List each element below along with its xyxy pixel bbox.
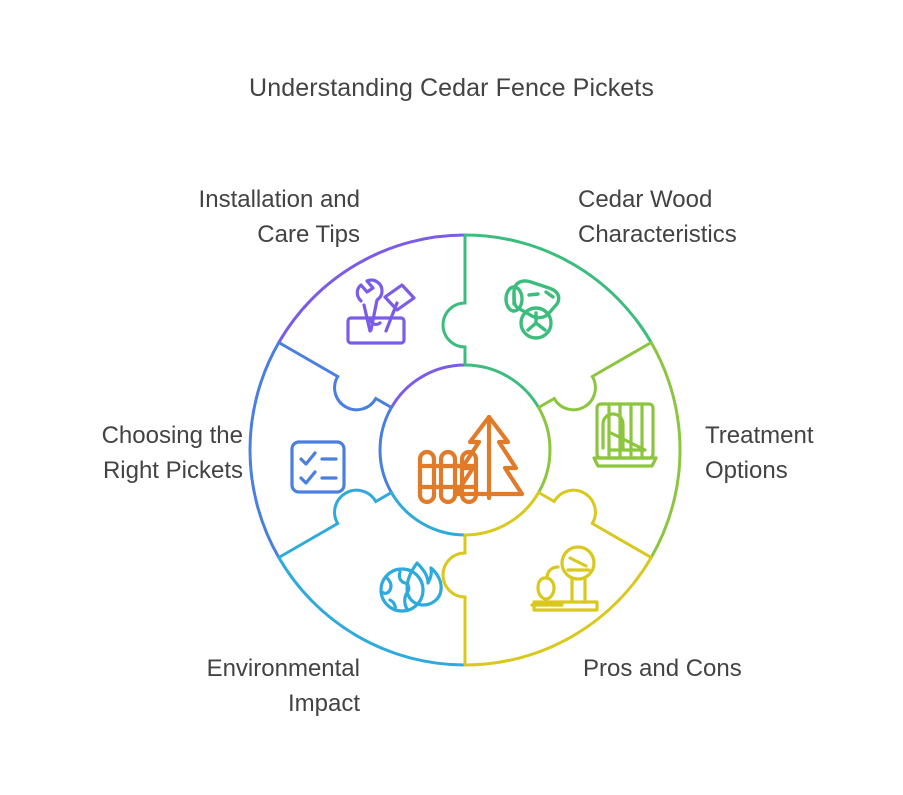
fence-and-cedar-tree-icon (420, 417, 522, 502)
toolbox-wrench-hammer-icon (348, 280, 414, 343)
inner-arc-treatment-options (539, 408, 550, 493)
divider-upper-right (539, 343, 652, 410)
segment-label-pros-and-cons[interactable]: Pros and Cons (583, 651, 742, 686)
segment-arc-treatment-options[interactable] (651, 343, 680, 558)
divider-upper-left (279, 343, 392, 410)
wood-log-grain-icon (506, 281, 559, 338)
divider-bottom (443, 535, 465, 665)
divider-lower-right (539, 490, 652, 557)
puzzle-wheel-diagram (0, 0, 903, 795)
balance-scale-icon (532, 547, 597, 610)
segment-label-cedar-wood-characteristics[interactable]: Cedar Wood Characteristics (578, 182, 737, 252)
segment-label-installation-and-care-tips[interactable]: Installation and Care Tips (199, 182, 360, 252)
segment-label-choosing-the-right-pickets[interactable]: Choosing the Right Pickets (102, 418, 243, 488)
inner-arc-choosing-the-right-pickets (380, 408, 391, 493)
divider-top (443, 235, 465, 365)
segment-label-environmental-impact[interactable]: Environmental Impact (207, 651, 360, 721)
inner-arc-installation-and-care-tips (391, 365, 465, 408)
globe-flame-icon (381, 563, 441, 611)
infographic-canvas: Understanding Cedar Fence Pickets (0, 0, 903, 795)
inner-arc-cedar-wood-characteristics (465, 365, 539, 408)
segment-label-treatment-options[interactable]: Treatment Options (705, 418, 813, 488)
fence-gate-icon (594, 404, 656, 466)
segment-arc-choosing-the-right-pickets[interactable] (250, 343, 279, 558)
checklist-icon (292, 442, 344, 492)
divider-lower-left (279, 490, 392, 557)
